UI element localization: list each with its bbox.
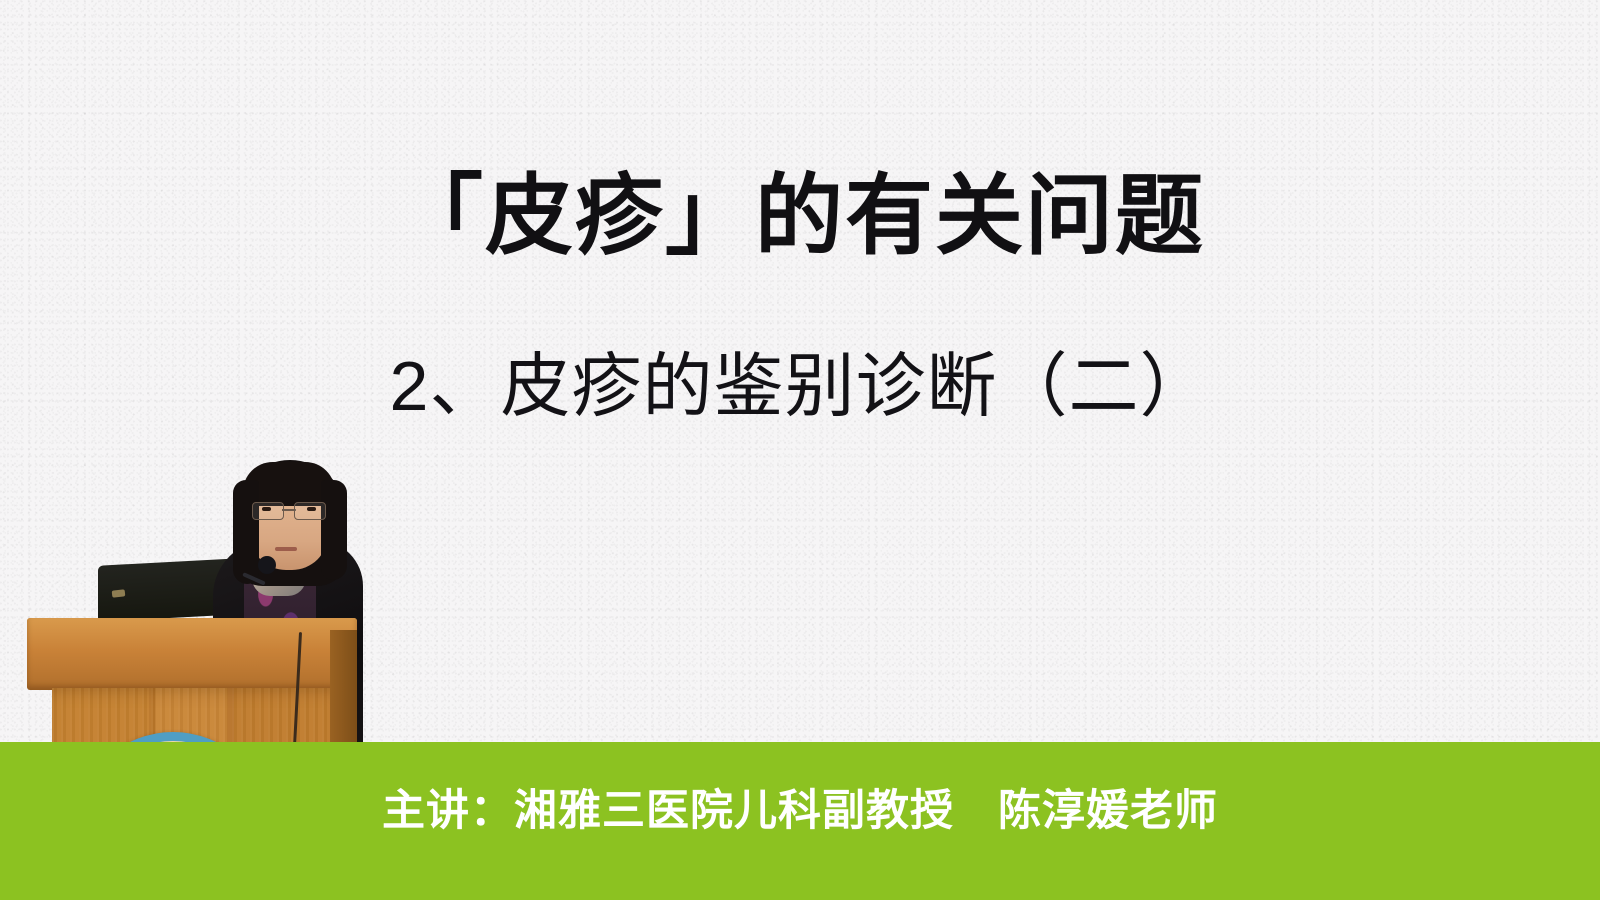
speaker-eye-right <box>307 507 316 511</box>
microphone-icon <box>258 556 276 574</box>
speaker-mouth <box>275 547 297 551</box>
presentation-slide: XIANGYA SCHOOL OF MEDICINE 1914 湘雅医学院 「皮… <box>0 0 1600 900</box>
glasses-lens-left <box>252 502 284 520</box>
speaker-hair-left <box>233 480 259 584</box>
podium-top <box>27 618 357 690</box>
speaker-eye-left <box>262 507 271 511</box>
speaker-hair-right <box>321 480 347 580</box>
presenter-credit: 主讲：湘雅三医院儿科副教授 陈淳媛老师 <box>0 776 1600 838</box>
laptop-badge-icon <box>112 589 126 597</box>
slide-title: 「皮疹」的有关问题 <box>0 168 1600 265</box>
glasses-lens-right <box>294 502 326 520</box>
slide-subtitle: 2、皮疹的鉴别诊断（二） <box>0 348 1600 425</box>
